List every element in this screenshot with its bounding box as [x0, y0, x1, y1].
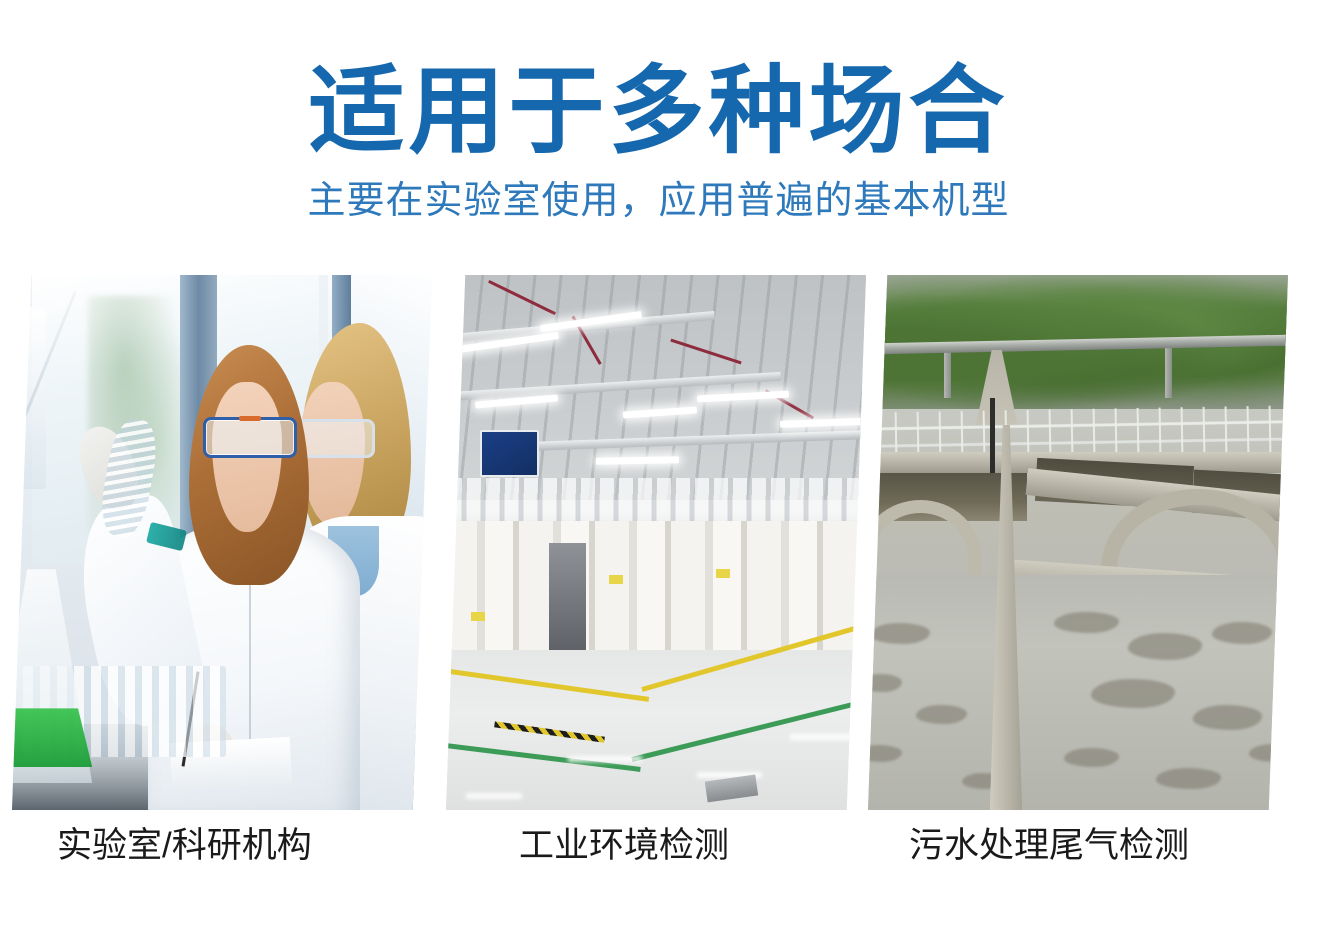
- banner-header: 适用于多种场合 主要在实验室使用，应用普遍的基本机型: [0, 0, 1317, 224]
- factory-floor: [446, 650, 866, 811]
- sludge-foam: [1156, 768, 1221, 788]
- caption-industrial: 工业环境检测: [519, 820, 729, 872]
- pipe-support: [1165, 345, 1172, 399]
- production-machines: [446, 521, 866, 660]
- page-subtitle: 主要在实验室使用，应用普遍的基本机型: [0, 163, 1317, 225]
- machine-label-tag: [716, 569, 730, 578]
- sludge-foam: [1212, 622, 1272, 644]
- caption-wastewater: 污水处理尾气检测: [909, 820, 1189, 872]
- scenario-gallery: [0, 275, 1317, 810]
- production-machine-dark: [549, 543, 586, 650]
- sludge-foam: [1193, 705, 1262, 730]
- laboratory-photo: [12, 275, 432, 810]
- gallery-panel-laboratory[interactable]: [12, 275, 432, 810]
- ceiling-light: [595, 456, 678, 464]
- sludge-foam: [1064, 748, 1119, 767]
- sludge-foam: [1249, 744, 1288, 762]
- caption-laboratory: 实验室/科研机构: [57, 820, 312, 872]
- gallery-captions: 实验室/科研机构 工业环境检测 污水处理尾气检测: [0, 820, 1317, 890]
- floor-reflection: [568, 756, 642, 762]
- floor-reflection: [790, 734, 864, 740]
- floor-reflection: [466, 793, 521, 799]
- gallery-panel-wastewater[interactable]: [868, 275, 1288, 810]
- sludge-foam: [1091, 679, 1174, 708]
- basin-post: [990, 398, 995, 473]
- machine-label-tag: [471, 612, 485, 621]
- sludge-foam: [916, 705, 967, 724]
- scientist-one-goggles: [203, 417, 297, 458]
- industrial-photo: [446, 275, 866, 810]
- gallery-panel-industrial[interactable]: [446, 275, 866, 810]
- page-title: 适用于多种场合: [0, 0, 1317, 163]
- sludge-water: [868, 575, 1288, 810]
- lab-glass-stand: [12, 307, 46, 489]
- sludge-foam: [870, 623, 930, 644]
- promo-banner: 适用于多种场合 主要在实验室使用，应用普遍的基本机型: [0, 0, 1317, 937]
- machine-label-tag: [609, 575, 623, 584]
- wastewater-photo: [868, 275, 1288, 810]
- factory-wall-monitor: [480, 430, 539, 477]
